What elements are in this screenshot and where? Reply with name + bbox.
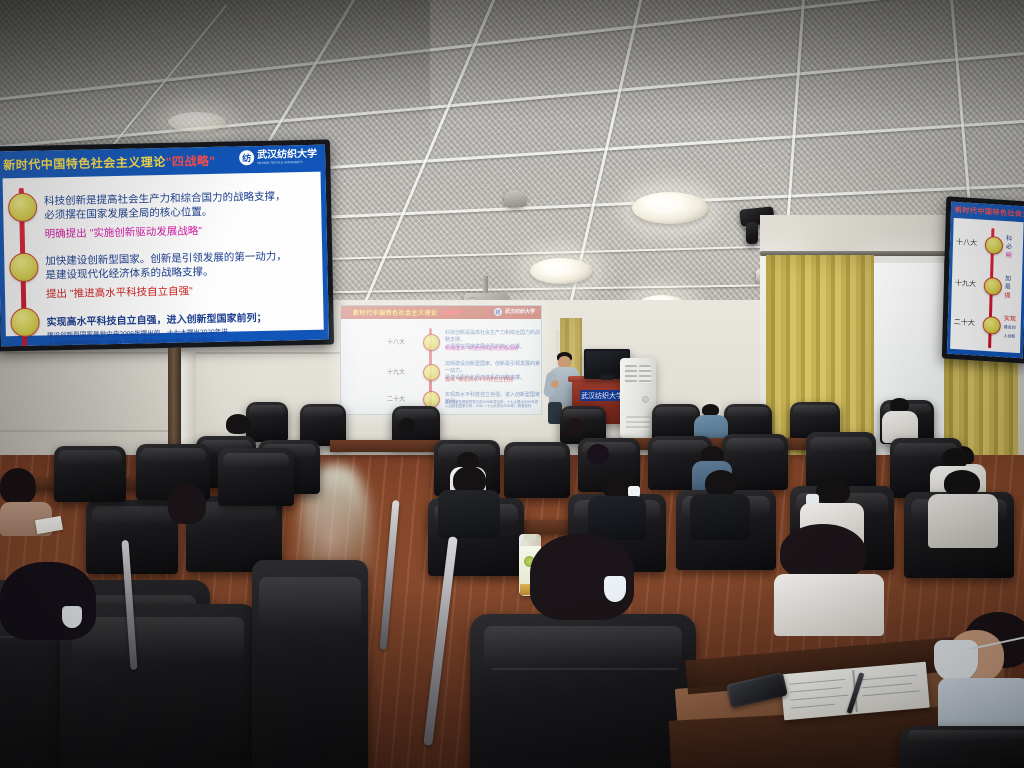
- hair: [168, 484, 206, 524]
- seat[interactable]: [252, 560, 368, 768]
- audience-member: [774, 524, 884, 634]
- audience-member: [158, 484, 214, 542]
- smoke-detector: [504, 190, 526, 207]
- face-mask: [934, 640, 978, 682]
- hair: [890, 398, 909, 412]
- face-mask: [62, 606, 82, 628]
- university-logo: 纺 武汉纺织大学 WUHAN TEXTILE UNIVERSITY: [239, 149, 317, 166]
- slide-paragraph-1: 科必明: [1006, 235, 1024, 262]
- ceiling-camera-mount: [746, 222, 758, 244]
- slide-title-highlight: "四战略": [166, 154, 216, 169]
- hair: [566, 418, 584, 436]
- ac-lower-vent: [626, 416, 650, 430]
- notebook-line: [861, 675, 917, 681]
- audience-member: [588, 472, 646, 538]
- hair: [944, 470, 980, 496]
- torso: [928, 494, 998, 548]
- notebook-line: [790, 687, 842, 693]
- hair: [399, 418, 415, 432]
- slide-surface: 新时代中国特色社会主义理论"四战略" 纺 武汉纺织大学 WUHAN TEXTIL…: [0, 145, 329, 347]
- right-lcd-display[interactable]: 新时代中国特色社会主义理论 十八大 十九大 二十大 科必明 加是提 实现建设创入…: [942, 196, 1024, 363]
- seat[interactable]: [900, 726, 1024, 768]
- lecture-hall-photo: 新时代中国特色社会主义理论"四战略" 纺 武汉纺织大学 WUHAN TEXTIL…: [0, 0, 1024, 768]
- timeline-label: 十九大: [955, 278, 976, 289]
- audience-member: [930, 612, 1024, 732]
- notebook-line: [862, 683, 912, 688]
- audience-member: [438, 466, 500, 536]
- projection-wash: [341, 306, 541, 414]
- audience-member: [530, 534, 646, 634]
- audience-member: [218, 414, 258, 450]
- seat[interactable]: [218, 448, 294, 506]
- seat[interactable]: [470, 614, 696, 768]
- ceiling-light: [530, 258, 592, 284]
- ac-vent: [625, 365, 637, 383]
- notebook-line: [862, 690, 920, 696]
- podium-monitor-stand: [601, 375, 613, 380]
- air-conditioner: [620, 358, 656, 438]
- center-projection-screen[interactable]: 新时代中国特色社会主义理论"四战略" 纺 武汉纺织大学 十八大 十九大 二十大 …: [340, 305, 542, 415]
- notebook-line: [791, 695, 849, 701]
- presenter-hand: [551, 380, 559, 388]
- slide-title-main: 新时代中国特色社会主义理论: [3, 155, 166, 172]
- hair: [705, 470, 737, 496]
- audience-member: [928, 470, 998, 546]
- hair: [0, 562, 96, 640]
- podium-nameplate: 武汉纺织大学: [580, 390, 624, 401]
- wall-seam: [0, 430, 180, 432]
- projected-slide: 新时代中国特色社会主义理论"四战略" 纺 武汉纺织大学 十八大 十九大 二十大 …: [341, 306, 541, 414]
- ceiling-light: [168, 112, 226, 132]
- audience-member: [690, 470, 750, 538]
- slide-paragraph-2: 加快建设创新型国家。创新是引领发展的第一动力， 是建设现代化经济体系的战略支撑。: [45, 249, 287, 283]
- ceiling-top-shade: [0, 0, 1024, 120]
- hair: [780, 524, 866, 580]
- slide-paragraph-3: 实现建设创入创新: [1003, 315, 1024, 342]
- ceiling-light: [632, 192, 708, 224]
- timeline-label: 十八大: [956, 237, 977, 248]
- hair: [942, 448, 968, 468]
- slide-surface: 新时代中国特色社会主义理论 十八大 十九大 二十大 科必明 加是提 实现建设创入…: [947, 202, 1024, 359]
- seat[interactable]: [504, 442, 570, 498]
- logo-name: 武汉纺织大学: [257, 149, 317, 160]
- seat-stitch: [492, 668, 678, 670]
- logo-subname: WUHAN TEXTILE UNIVERSITY: [257, 159, 317, 164]
- timeline-label: 二十大: [954, 317, 975, 328]
- hair: [0, 468, 36, 504]
- slide-paragraph-1: 科技创新是提高社会生产力和综合国力的战略支撑， 必须摆在国家发展全局的核心位置。: [44, 189, 286, 223]
- slide-paragraph-2: 加是提: [1004, 275, 1024, 302]
- hair: [587, 444, 609, 464]
- torso: [690, 494, 750, 540]
- seat[interactable]: [54, 446, 126, 502]
- face-mask: [604, 576, 626, 602]
- hair: [226, 414, 250, 434]
- left-lcd-display[interactable]: 新时代中国特色社会主义理论"四战略" 纺 武汉纺织大学 WUHAN TEXTIL…: [0, 139, 334, 351]
- slide-footnote: 建设创新型国家是党中央2006年提出的，十七大提出2020年进 入创新型国家行列…: [47, 329, 228, 347]
- ac-control-dial[interactable]: [642, 396, 649, 403]
- logo-mark-icon: 纺: [239, 150, 254, 165]
- ac-vent: [639, 365, 651, 383]
- torso: [438, 490, 500, 538]
- audience-member: [0, 562, 112, 652]
- notebook-line: [789, 679, 845, 685]
- hair: [816, 478, 850, 504]
- notebook-line: [791, 704, 835, 709]
- torso: [774, 574, 884, 636]
- slide-paragraph-2-emphasis: 提出 "推进高水平科技自立自强": [46, 284, 193, 302]
